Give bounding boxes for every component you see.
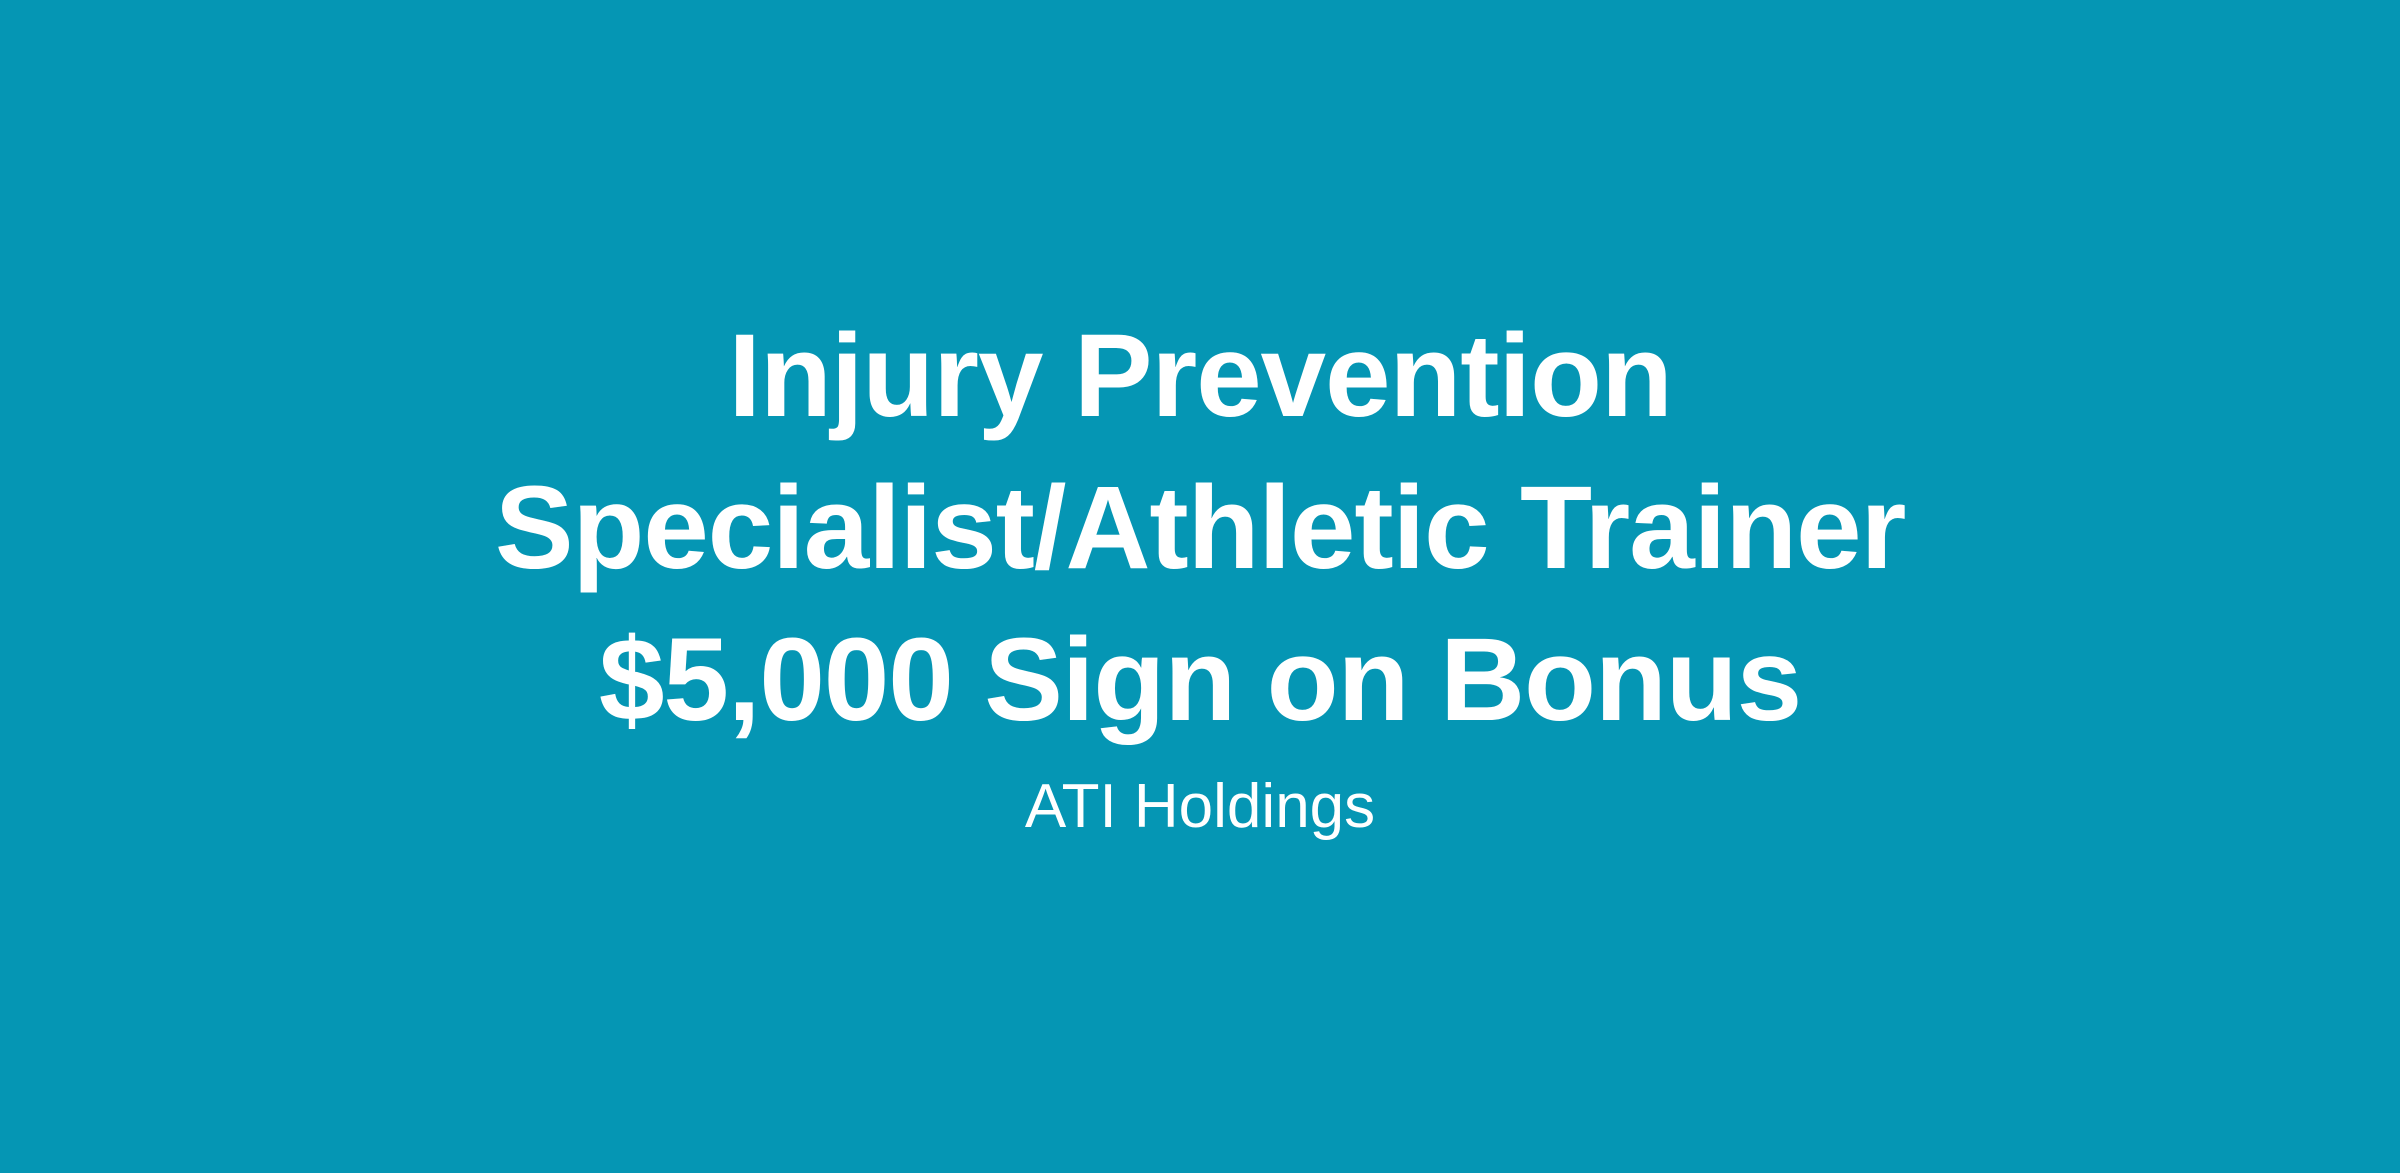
job-title: Injury Prevention Specialist/Athletic Tr… <box>495 300 1905 756</box>
job-posting-card: Injury Prevention Specialist/Athletic Tr… <box>0 0 2400 1173</box>
job-card-content: Injury Prevention Specialist/Athletic Tr… <box>320 300 2080 846</box>
job-title-line-2: Specialist/Athletic Trainer <box>495 452 1905 604</box>
job-title-line-3: $5,000 Sign on Bonus <box>495 604 1905 756</box>
job-title-line-1: Injury Prevention <box>495 300 1905 452</box>
company-name: ATI Holdings <box>1025 768 1375 846</box>
